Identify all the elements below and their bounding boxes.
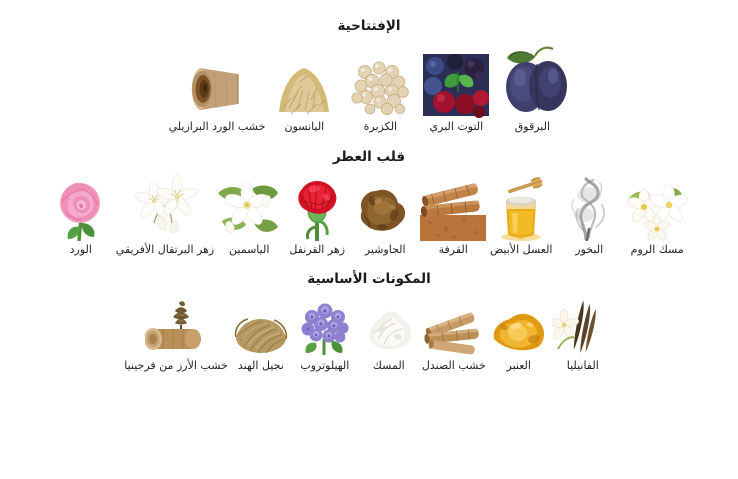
vetiver-icon (230, 295, 292, 357)
note-label: الكزبرة (364, 120, 397, 134)
note-label: زهر البرتقال الأفريقي (116, 243, 214, 257)
carnation-icon (284, 171, 350, 241)
note-item: الكزبرة (343, 42, 417, 134)
note-item[interactable]: البرقوق (495, 42, 569, 134)
note-label: الجاوشير (365, 243, 406, 257)
note-label: القرفة (439, 243, 468, 257)
note-item: المسك (358, 295, 420, 373)
note-label: الياسمين (229, 243, 269, 257)
note-item: العنبر (488, 295, 550, 373)
opopanax-resin-icon (352, 171, 418, 241)
note-item: خشب الورد البرازيلي (169, 42, 266, 134)
note-item: الياسمين (216, 171, 282, 257)
note-label: الورد (70, 243, 92, 257)
note-item[interactable]: التوت البري (419, 42, 493, 134)
note-label: البخور (575, 243, 603, 257)
amber-icon (488, 295, 550, 357)
note-label: زهر القرنفل (289, 243, 345, 257)
note-item: الجاوشير (352, 171, 418, 257)
note-item: خشب الأرز من فرجينيا (124, 295, 228, 373)
note-item: البخور (556, 171, 622, 257)
orange-blossom-icon (132, 171, 198, 241)
note-item: العسل الأبيض (488, 171, 554, 257)
rosewood-icon (180, 42, 254, 118)
note-item: اليانسون (267, 42, 341, 134)
note-item: الورد (48, 171, 114, 257)
note-label: مسك الروم (631, 243, 684, 257)
perfume-notes-page: الإفتتاحية (0, 0, 738, 479)
note-label: خشب الأرز من فرجينيا (124, 359, 228, 373)
section-title-base-notes: المكونات الأساسية (0, 257, 738, 287)
note-label: نجيل الهند (238, 359, 284, 373)
note-label: اليانسون (285, 120, 325, 134)
musk-icon (358, 295, 420, 357)
note-item: مسك الروم (624, 171, 690, 257)
note-label: خشب الصندل (422, 359, 486, 373)
cinnamon-icon (420, 171, 486, 241)
incense-smoke-icon (556, 171, 622, 241)
berries-icon (419, 42, 493, 118)
note-label: العنبر (507, 359, 531, 373)
notes-row-top: البرقوق (0, 42, 738, 134)
note-label: خشب الورد البرازيلي (169, 120, 266, 134)
heliotrope-icon (294, 295, 356, 357)
note-item: زهر البرتقال الأفريقي (116, 171, 214, 257)
section-title-top-notes: الإفتتاحية (0, 0, 738, 34)
note-item: الهيلوتروب (294, 295, 356, 373)
coriander-icon (343, 42, 417, 118)
section-title-heart-notes: قلب العطر (0, 134, 738, 165)
rose-icon (48, 171, 114, 241)
note-label: البرقوق (515, 120, 550, 134)
section-top-notes: الإفتتاحية (0, 0, 738, 134)
notes-row-base: الفانيليا (0, 295, 738, 373)
vanilla-icon (552, 295, 614, 357)
note-item: القرفة (420, 171, 486, 257)
note-label: المسك (373, 359, 405, 373)
honey-jar-icon (488, 171, 554, 241)
note-item: خشب الصندل (422, 295, 486, 373)
notes-row-heart: مسك الروم (0, 171, 738, 257)
sandalwood-icon (423, 295, 485, 357)
cedarwood-icon (145, 295, 207, 357)
note-label: الفانيليا (567, 359, 599, 373)
plum-icon (495, 42, 569, 118)
note-item: نجيل الهند (230, 295, 292, 373)
jasmine-icon (216, 171, 282, 241)
note-label: التوت البري (430, 120, 484, 134)
note-label: الهيلوتروب (300, 359, 349, 373)
note-item: زهر القرنفل (284, 171, 350, 257)
anise-icon (267, 42, 341, 118)
note-label: العسل الأبيض (490, 243, 553, 257)
section-base-notes: المكونات الأساسية (0, 257, 738, 373)
tuberose-icon (624, 171, 690, 241)
note-item: الفانيليا (552, 295, 614, 373)
section-heart-notes: قلب العطر (0, 134, 738, 257)
